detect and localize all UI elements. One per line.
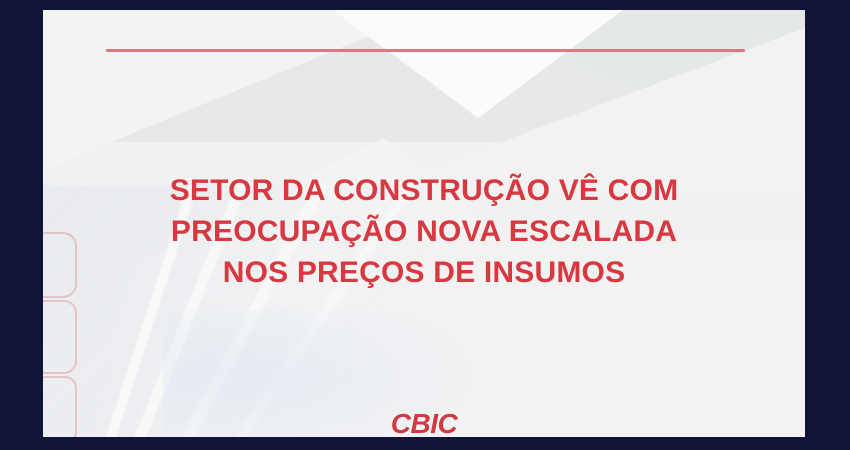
headline-line-2: PREOCUPAÇÃO NOVA ESCALADA xyxy=(43,211,805,252)
upper-band-shape xyxy=(43,10,805,142)
headline-line-3: NOS PREÇOS DE INSUMOS xyxy=(43,252,805,293)
red-divider-rule xyxy=(106,49,745,52)
poster-card: SETOR DA CONSTRUÇÃO VÊ COM PREOCUPAÇÃO N… xyxy=(0,0,850,450)
right-top-wedge-shape xyxy=(373,10,805,190)
left-top-wedge-shape xyxy=(43,10,433,170)
right-shade-shape xyxy=(403,10,805,175)
cbic-logo: CBIC xyxy=(43,408,805,437)
cbic-wordmark-text: CBIC xyxy=(391,408,457,437)
top-center-triangle-shape xyxy=(333,10,623,118)
poster-canvas: SETOR DA CONSTRUÇÃO VÊ COM PREOCUPAÇÃO N… xyxy=(43,10,805,437)
watermark-shape-2 xyxy=(43,300,77,374)
headline-line-1: SETOR DA CONSTRUÇÃO VÊ COM xyxy=(43,170,805,211)
headline: SETOR DA CONSTRUÇÃO VÊ COM PREOCUPAÇÃO N… xyxy=(43,170,805,293)
